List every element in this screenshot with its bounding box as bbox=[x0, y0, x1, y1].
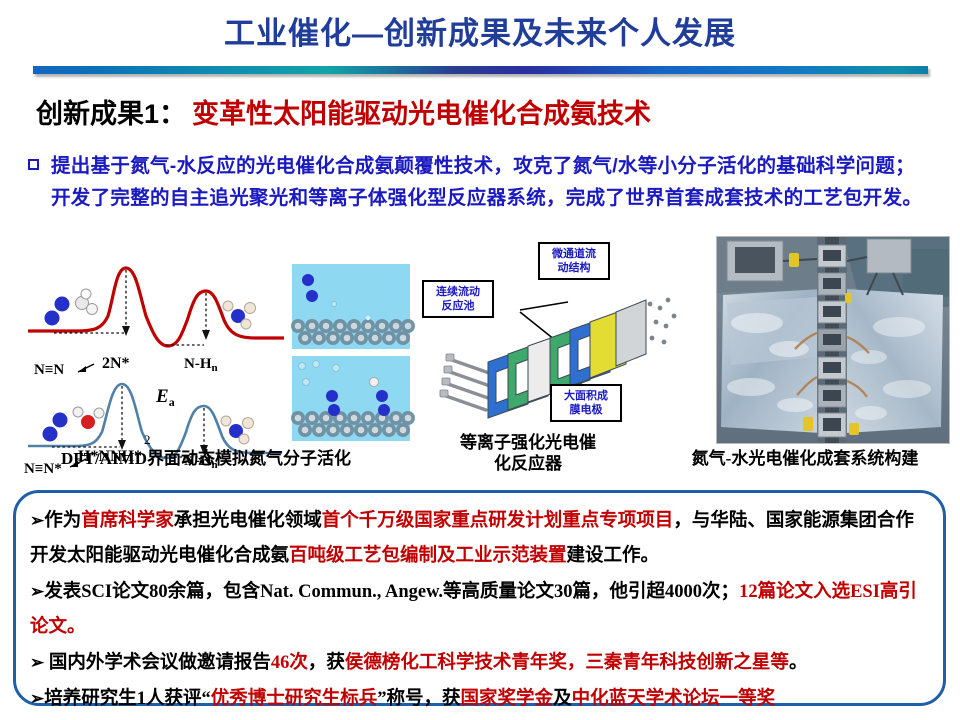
seg-highlight: 首席科学家 bbox=[81, 511, 174, 531]
label-top-mid: 2N* bbox=[102, 355, 130, 372]
square-bullet-icon bbox=[28, 159, 39, 170]
seg-highlight: 百吨级工艺包编制及工业示范装置 bbox=[289, 546, 567, 566]
summary-line-4: ➢培养研究生1人获评“优秀博士研究生标兵”称号，获国家奖学金及中化蓝天学术论坛一… bbox=[30, 681, 929, 717]
seg: 发表SCI论文80余篇，包含Nat. Commun., Angew.等高质量论文… bbox=[44, 582, 739, 602]
figure-solar-system-photo bbox=[716, 236, 950, 444]
label-step-number: 2 bbox=[144, 432, 151, 447]
section-heading: 创新成果1：变革性太阳能驱动光电催化合成氨技术 bbox=[36, 92, 651, 131]
label-top-end: N-Hn bbox=[184, 356, 218, 374]
caption-dft-figure: DFT/AIMD界面动态模拟氮气分子活化 bbox=[6, 448, 406, 469]
seg-highlight: 46次 bbox=[271, 653, 308, 673]
title-divider-bar bbox=[33, 66, 928, 74]
summary-box: ➢作为首席科学家承担光电催化领域首个千万级国家重点研发计划重点专项项目，与华陆、… bbox=[13, 490, 946, 706]
caption-photo-figure: 氮气-水光电催化成套系统构建 bbox=[650, 448, 960, 469]
page-title: 工业催化—创新成果及未来个人发展 bbox=[0, 8, 960, 53]
caption-reactor-figure: 等离子强化光电催 化反应器 bbox=[418, 432, 638, 474]
summary-bullet-icon-3: ➢ bbox=[30, 653, 44, 672]
summary-line-2: ➢发表SCI论文80余篇，包含Nat. Commun., Angew.等高质量论… bbox=[30, 574, 929, 645]
summary-bullet-icon-4: ➢ bbox=[30, 689, 44, 708]
seg: ”称号，获 bbox=[377, 689, 460, 709]
section-heading-prefix: 创新成果1： bbox=[36, 99, 186, 129]
summary-bullet-icon-1: ➢ bbox=[30, 511, 44, 530]
seg: ，获 bbox=[308, 653, 345, 673]
seg-highlight: 中化蓝天学术论坛一等奖 bbox=[572, 689, 776, 709]
summary-bullet-icon-2: ➢ bbox=[30, 582, 44, 601]
seg: 作为 bbox=[44, 511, 81, 531]
seg: 培养研究生1人获评“ bbox=[44, 689, 211, 709]
key-achievement-text: 提出基于氮气-水反应的光电催化合成氨颠覆性技术，攻克了氮气/水等小分子活化的基础… bbox=[51, 150, 934, 214]
callout-micro-channel: 微通道流 动结构 bbox=[538, 242, 610, 280]
key-achievement-bullet: 提出基于氮气-水反应的光电催化合成氨颠覆性技术，攻克了氮气/水等小分子活化的基础… bbox=[28, 150, 934, 214]
label-activation-energy: Ea bbox=[155, 386, 175, 409]
seg-highlight: 国家奖学金 bbox=[461, 689, 554, 709]
seg: 及 bbox=[553, 689, 572, 709]
figure-dft-energy-profile: N≡N 2N* N-Hn bbox=[16, 246, 416, 476]
seg: 。 bbox=[789, 653, 808, 673]
summary-line-3: ➢ 国内外学术会议做邀请报告46次，获侯德榜化工科学技术青年奖，三秦青年科技创新… bbox=[30, 645, 929, 681]
callout-membrane-electrode: 大面积成 膜电极 bbox=[550, 384, 622, 422]
summary-line-1: ➢作为首席科学家承担光电催化领域首个千万级国家重点研发计划重点专项项目，与华陆、… bbox=[30, 503, 929, 574]
seg: 建设工作。 bbox=[567, 546, 660, 566]
seg-highlight: 首个千万级国家重点研发计划重点专项项目 bbox=[322, 511, 674, 531]
figures-row: N≡N 2N* N-Hn bbox=[0, 236, 960, 484]
section-heading-highlight: 变革性太阳能驱动光电催化合成氨技术 bbox=[192, 99, 651, 129]
label-top-start: N≡N bbox=[34, 362, 64, 378]
seg-highlight: 侯德榜化工科学技术青年奖，三秦青年科技创新之星等 bbox=[345, 653, 789, 673]
figure-plasma-reactor: 微通道流 动结构 连续流动 反应池 大面积成 膜电极 bbox=[420, 242, 690, 442]
seg: 国内外学术会议做邀请报告 bbox=[44, 653, 271, 673]
seg: 承担光电催化领域 bbox=[174, 511, 322, 531]
callout-continuous-flow-cell: 连续流动 反应池 bbox=[422, 280, 494, 318]
seg-highlight: 优秀博士研究生标兵 bbox=[211, 689, 378, 709]
